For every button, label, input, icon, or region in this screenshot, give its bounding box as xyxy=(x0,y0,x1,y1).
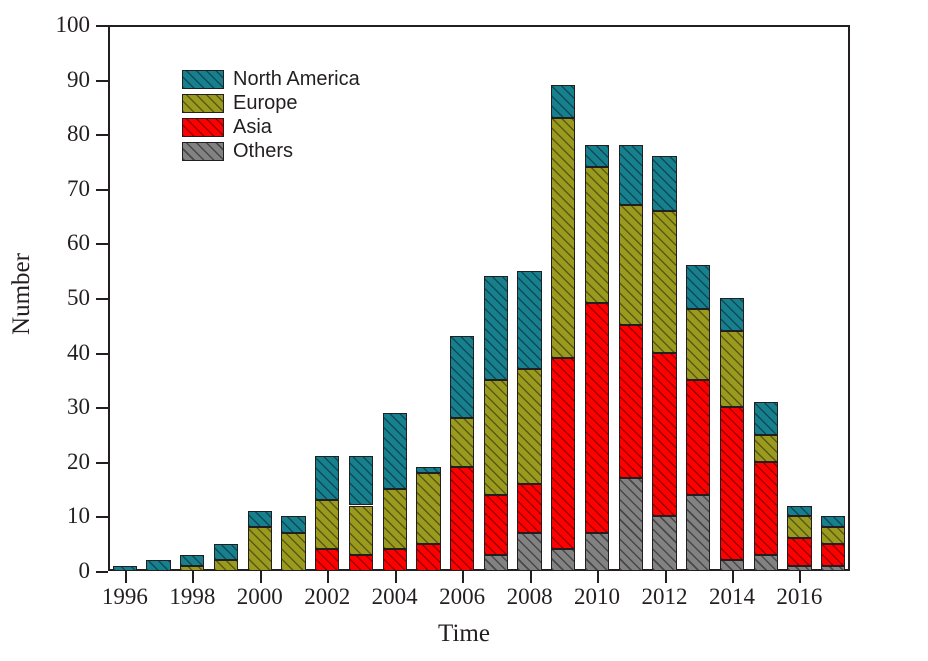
legend-swatch-as xyxy=(182,118,224,137)
y-tick xyxy=(96,571,108,573)
y-tick xyxy=(96,516,108,518)
y-tick xyxy=(96,462,108,464)
y-tick-label: 70 xyxy=(67,177,90,200)
x-tick xyxy=(597,571,599,583)
y-tick xyxy=(96,134,108,136)
y-tick-label: 60 xyxy=(67,231,90,254)
x-tick-label: 1998 xyxy=(169,585,215,608)
legend-swatch-na xyxy=(182,70,224,89)
x-tick-label: 1996 xyxy=(102,585,148,608)
y-tick-label: 10 xyxy=(67,504,90,527)
x-tick xyxy=(260,571,262,583)
x-tick xyxy=(799,571,801,583)
y-tick xyxy=(96,298,108,300)
x-tick xyxy=(327,571,329,583)
y-tick-label: 30 xyxy=(67,395,90,418)
y-tick-label: 100 xyxy=(56,13,91,36)
x-tick-label: 2010 xyxy=(574,585,620,608)
legend: North AmericaEuropeAsiaOthers xyxy=(182,68,360,164)
x-tick xyxy=(665,571,667,583)
legend-label: Europe xyxy=(233,93,298,113)
legend-swatch-eu xyxy=(182,94,224,113)
x-tick-label: 2016 xyxy=(776,585,822,608)
x-tick xyxy=(462,571,464,583)
legend-label: North America xyxy=(233,69,360,89)
x-tick xyxy=(192,571,194,583)
y-tick xyxy=(96,189,108,191)
y-tick-label: 80 xyxy=(67,122,90,145)
legend-label: Others xyxy=(233,141,293,161)
x-axis-title: Time xyxy=(0,620,928,648)
y-tick xyxy=(96,25,108,27)
legend-item: Europe xyxy=(182,92,360,114)
x-tick xyxy=(530,571,532,583)
y-tick-label: 0 xyxy=(79,559,91,582)
y-tick xyxy=(96,80,108,82)
y-tick-label: 40 xyxy=(67,341,90,364)
legend-label: Asia xyxy=(233,117,272,137)
x-tick-label: 2004 xyxy=(372,585,418,608)
x-tick xyxy=(125,571,127,583)
legend-item: Others xyxy=(182,140,360,162)
stacked-bar-chart: 0102030405060708090100 19961998200020022… xyxy=(0,0,928,661)
x-tick-label: 2008 xyxy=(507,585,553,608)
legend-item: North America xyxy=(182,68,360,90)
x-tick-label: 2002 xyxy=(304,585,350,608)
x-tick-label: 2012 xyxy=(642,585,688,608)
y-tick-label: 20 xyxy=(67,450,90,473)
y-tick xyxy=(96,407,108,409)
legend-swatch-ot xyxy=(182,142,224,161)
y-tick xyxy=(96,243,108,245)
y-tick-label: 50 xyxy=(67,286,90,309)
x-tick-label: 2014 xyxy=(709,585,755,608)
x-tick xyxy=(395,571,397,583)
x-tick-label: 2000 xyxy=(237,585,283,608)
x-tick-label: 2006 xyxy=(439,585,485,608)
x-tick xyxy=(732,571,734,583)
y-tick-label: 90 xyxy=(67,68,90,91)
y-tick xyxy=(96,353,108,355)
y-axis-title: Number xyxy=(8,214,36,374)
legend-item: Asia xyxy=(182,116,360,138)
